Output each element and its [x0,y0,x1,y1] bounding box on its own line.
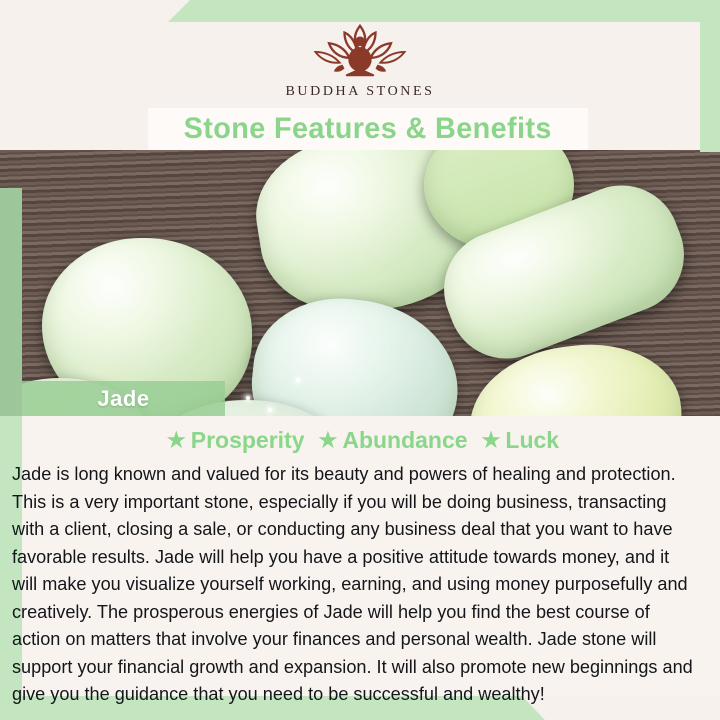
lotus-meditation-icon [301,20,419,82]
description-panel: ★ Prosperity ★ Abundance ★ Luck Jade is … [22,416,720,696]
sparkle [296,378,300,382]
brand-name: BUDDHA STONES [285,84,434,100]
page-title: Stone Features & Benefits [184,112,552,146]
stone-name-label: Jade [97,386,149,412]
stone-name-bar: Jade [22,381,225,416]
benefit-label: Luck [505,427,559,454]
brand-logo: BUDDHA STONES [0,8,720,112]
title-banner: Stone Features & Benefits [148,108,588,150]
benefits-row: ★ Prosperity ★ Abundance ★ Luck [14,422,712,458]
sparkle [246,396,250,400]
description-text: Jade is long known and valued for its be… [12,458,702,708]
star-icon: ★ [167,430,186,451]
benefit-label: Abundance [342,427,467,454]
decorative-photo-left-edge [0,188,22,416]
benefit-luck: ★ Luck [482,427,560,454]
stone-photo [0,150,720,416]
benefit-label: Prosperity [191,427,305,454]
benefit-prosperity: ★ Prosperity [167,427,305,454]
benefit-abundance: ★ Abundance [319,427,468,454]
star-icon: ★ [319,430,338,451]
sparkle [268,408,272,412]
star-icon: ★ [482,430,501,451]
